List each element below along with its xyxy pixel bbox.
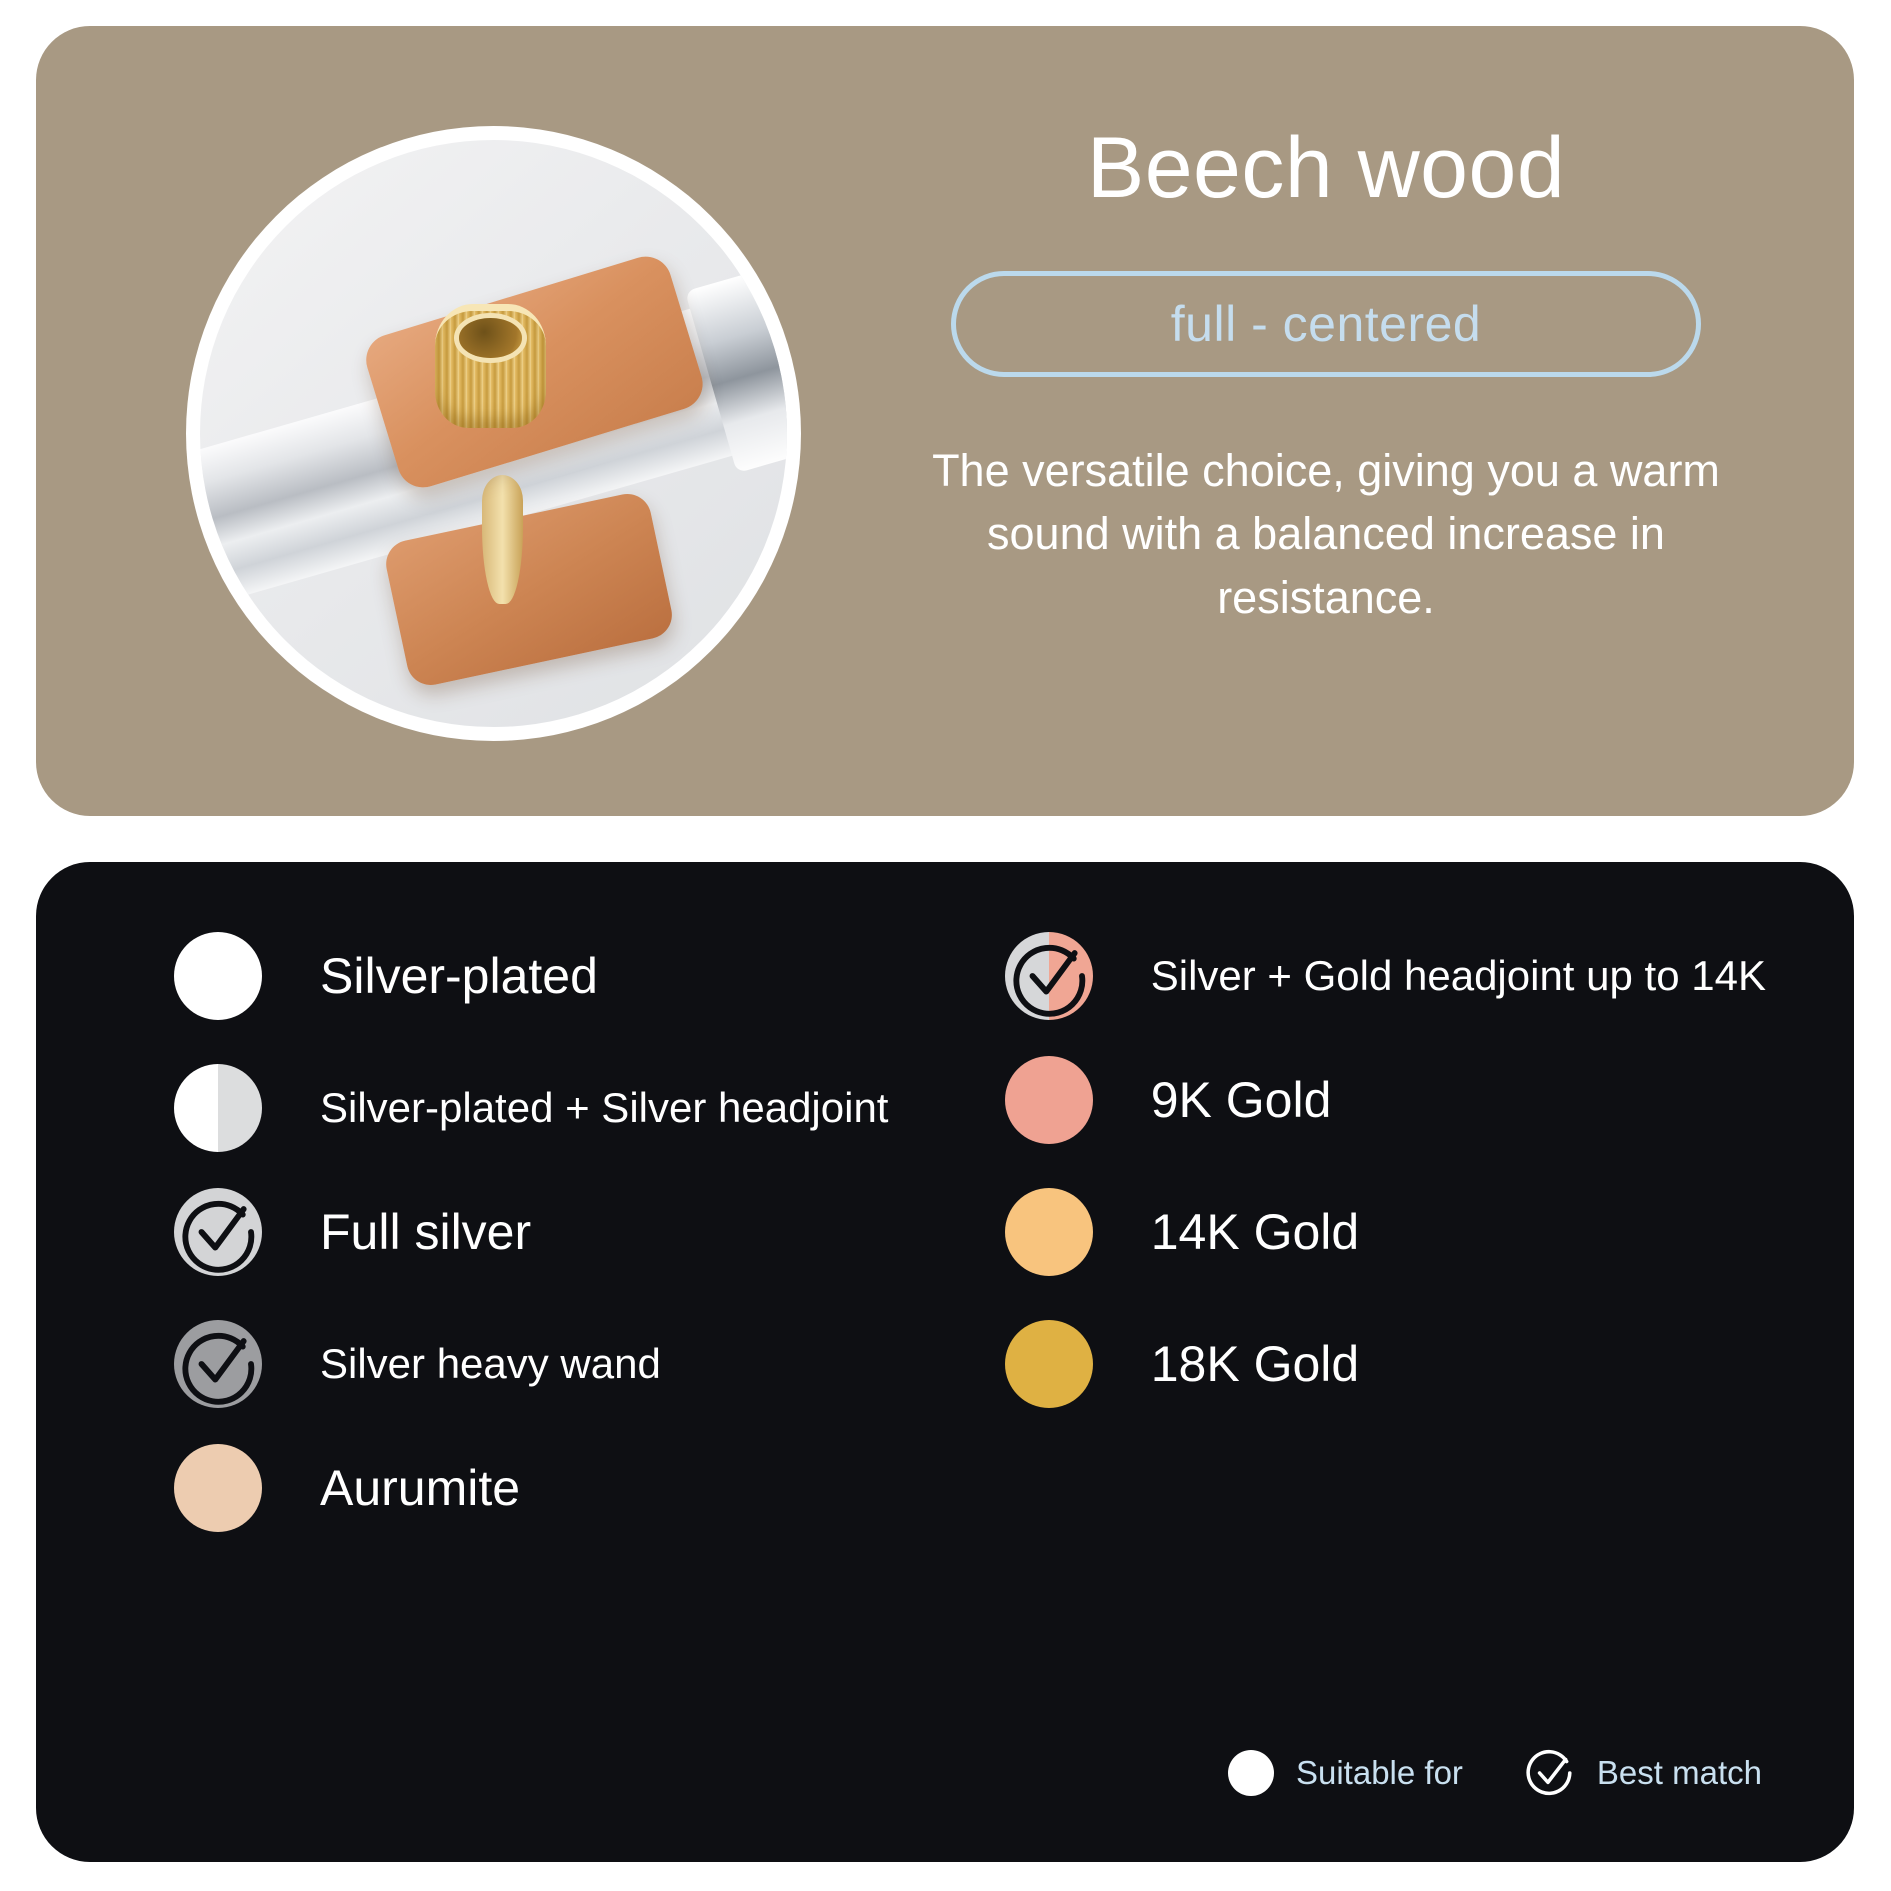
check-circle-icon bbox=[1005, 932, 1093, 1020]
check-circle-icon bbox=[1525, 1748, 1575, 1798]
filled-circle-icon bbox=[174, 932, 262, 1020]
material-label: 14K Gold bbox=[1151, 1200, 1359, 1265]
marker-half-left bbox=[174, 932, 218, 1020]
status-badge-label: full - centered bbox=[1171, 295, 1481, 353]
legend-item-suitable: Suitable for bbox=[1228, 1750, 1463, 1796]
marker-half-right bbox=[1049, 1056, 1093, 1144]
material-label: 9K Gold bbox=[1151, 1068, 1332, 1133]
legend-label-best-match: Best match bbox=[1597, 1754, 1762, 1792]
material-row-18k-gold[interactable]: 18K Gold bbox=[1005, 1320, 1774, 1408]
material-row-silver-plated[interactable]: Silver-plated bbox=[174, 932, 985, 1020]
check-glyph bbox=[1005, 932, 1093, 1020]
infographic-page: Beech wood full - centered The versatile… bbox=[0, 0, 1891, 1891]
marker-half-right bbox=[1049, 1320, 1093, 1408]
material-row-silver-gold-headjoint-up-to-14k[interactable]: Silver + Gold headjoint up to 14K bbox=[1005, 932, 1774, 1020]
material-label: 18K Gold bbox=[1151, 1332, 1359, 1397]
material-label: Aurumite bbox=[320, 1456, 520, 1521]
marker-half-left bbox=[1005, 1188, 1049, 1276]
legend-label-suitable: Suitable for bbox=[1296, 1754, 1463, 1792]
legend-item-best-match: Best match bbox=[1525, 1748, 1762, 1798]
materials-card: Silver-platedSilver-plated + Silver head… bbox=[36, 862, 1854, 1862]
material-row-silver-plated-silver-headjoint[interactable]: Silver-plated + Silver headjoint bbox=[174, 1064, 985, 1152]
material-label: Silver + Gold headjoint up to 14K bbox=[1151, 949, 1766, 1004]
check-glyph bbox=[174, 1320, 262, 1408]
marker-half-left bbox=[174, 1444, 218, 1532]
page-title: Beech wood bbox=[826, 121, 1826, 216]
status-badge: full - centered bbox=[951, 271, 1701, 377]
half-circle-icon bbox=[174, 1064, 262, 1152]
material-row-9k-gold[interactable]: 9K Gold bbox=[1005, 1056, 1774, 1144]
material-label: Silver-plated bbox=[320, 944, 598, 1009]
brass-knurled-screw-illustration bbox=[435, 304, 547, 427]
product-image bbox=[200, 140, 787, 727]
materials-columns: Silver-platedSilver-plated + Silver head… bbox=[116, 932, 1774, 1576]
marker-half-right bbox=[218, 1444, 262, 1532]
check-circle-icon bbox=[174, 1320, 262, 1408]
material-row-silver-heavy-wand[interactable]: Silver heavy wand bbox=[174, 1320, 985, 1408]
material-label: Silver-plated + Silver headjoint bbox=[320, 1081, 888, 1136]
marker-half-left bbox=[174, 1064, 218, 1152]
marker-half-right bbox=[1049, 1188, 1093, 1276]
material-label: Full silver bbox=[320, 1200, 531, 1265]
material-label: Silver heavy wand bbox=[320, 1337, 661, 1392]
filled-circle-icon bbox=[1005, 1188, 1093, 1276]
materials-column-right: Silver + Gold headjoint up to 14K9K Gold… bbox=[985, 932, 1774, 1576]
hero-card: Beech wood full - centered The versatile… bbox=[36, 26, 1854, 816]
marker-half-right bbox=[218, 1064, 262, 1152]
filled-circle-icon bbox=[1005, 1056, 1093, 1144]
filled-circle-icon bbox=[1005, 1320, 1093, 1408]
material-row-aurumite[interactable]: Aurumite bbox=[174, 1444, 985, 1532]
material-row-full-silver[interactable]: Full silver bbox=[174, 1188, 985, 1276]
material-row-14k-gold[interactable]: 14K Gold bbox=[1005, 1188, 1774, 1276]
materials-column-left: Silver-platedSilver-plated + Silver head… bbox=[116, 932, 985, 1576]
hero-text-block: Beech wood full - centered The versatile… bbox=[826, 121, 1826, 630]
marker-half-left bbox=[1005, 1056, 1049, 1144]
hero-description: The versatile choice, giving you a warm … bbox=[921, 439, 1731, 631]
check-glyph bbox=[174, 1188, 262, 1276]
filled-circle-icon bbox=[1228, 1750, 1274, 1796]
filled-circle-icon bbox=[174, 1444, 262, 1532]
marker-half-left bbox=[1005, 1320, 1049, 1408]
product-image-frame bbox=[186, 126, 801, 741]
marker-half-right bbox=[218, 932, 262, 1020]
check-circle-icon bbox=[174, 1188, 262, 1276]
brass-pin-illustration bbox=[482, 475, 523, 604]
legend: Suitable for Best match bbox=[1228, 1748, 1762, 1798]
